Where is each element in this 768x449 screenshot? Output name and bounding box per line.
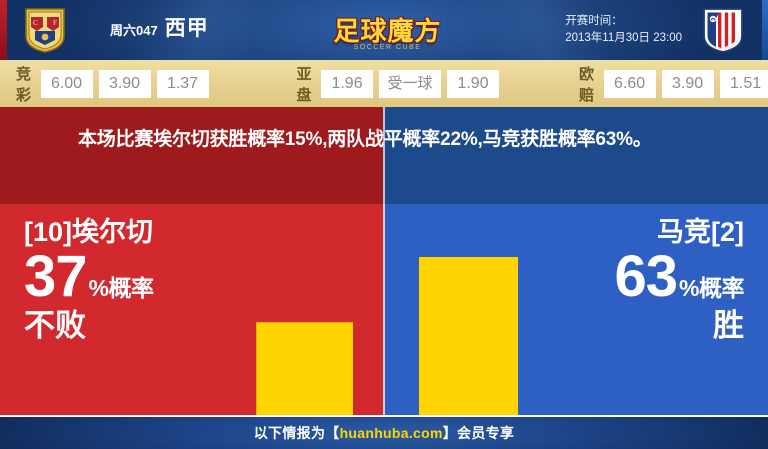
probability-chart: [10]埃尔切 37 %概率 不败 马竞[2] 63 %概率 胜 — [0, 204, 768, 415]
away-percent-unit: %概率 — [679, 269, 744, 303]
odds-group-title: 亚盘 — [297, 63, 313, 105]
site-logo[interactable]: 足球魔方 SOCCER CUBE — [325, 8, 450, 50]
footer-prefix: 以下情报为【 — [254, 425, 340, 441]
home-percent-unit: %概率 — [89, 269, 154, 303]
odds-cell-yapan-away[interactable]: 1.90 — [447, 70, 499, 98]
kickoff-value: 2013年11月30日 23:00 — [565, 30, 682, 47]
odds-group-jingcai: 竞彩 6.00 3.90 1.37 — [16, 63, 209, 105]
match-league: 西甲 — [165, 12, 209, 42]
odds-group-yapan: 亚盘 1.96 受一球 1.90 — [297, 63, 500, 105]
bar-away-probability — [418, 256, 518, 415]
odds-group-oupei: 欧赔 6.60 3.90 1.51 — [579, 63, 768, 105]
away-percent-row: 63 %概率 — [615, 248, 744, 306]
away-team-name: 马竞[2] — [615, 218, 744, 246]
bar-home-probability — [256, 322, 353, 415]
home-team-name: [10]埃尔切 — [24, 218, 153, 246]
home-percent-value: 37 — [24, 248, 87, 306]
odds-cell-jingcai-draw[interactable]: 3.90 — [99, 70, 151, 98]
match-round: 周六047 — [110, 20, 158, 39]
footer-brand-link[interactable]: huanhuba.com — [340, 425, 443, 441]
odds-group-title: 竞彩 — [16, 63, 32, 105]
footer-notice: 以下情报为【huanhuba.com】会员专享 — [254, 423, 514, 443]
home-stats: [10]埃尔切 37 %概率 不败 — [24, 218, 153, 343]
header-bar: C F 周六047 西甲 足球魔方 SOCCER CUBE — [0, 0, 768, 60]
elche-crest-icon: C F — [22, 6, 68, 54]
atletico-madrid-crest-icon — [700, 6, 746, 54]
statement-band-right-bg — [384, 107, 768, 204]
header-away-color-strip — [762, 0, 768, 60]
home-percent-row: 37 %概率 — [24, 248, 153, 306]
footer-suffix: 】会员专享 — [443, 425, 515, 441]
footer-bar: 以下情报为【huanhuba.com】会员专享 — [0, 417, 768, 449]
panel-divider — [383, 204, 385, 415]
away-outcome-label: 胜 — [615, 310, 744, 343]
odds-group-title: 欧赔 — [579, 63, 595, 105]
svg-text:F: F — [53, 19, 57, 27]
match-prediction-infographic: C F 周六047 西甲 足球魔方 SOCCER CUBE — [0, 0, 768, 449]
odds-cell-jingcai-home[interactable]: 6.00 — [41, 70, 93, 98]
site-logo-subtitle: SOCCER CUBE — [325, 44, 450, 51]
odds-cell-oupei-home[interactable]: 6.60 — [604, 70, 656, 98]
match-label: 周六047 西甲 — [110, 12, 209, 48]
odds-cell-jingcai-away[interactable]: 1.37 — [157, 70, 209, 98]
statement-band-divider — [383, 107, 385, 204]
away-percent-value: 63 — [615, 248, 678, 306]
kickoff-info: 开赛时间： 2013年11月30日 23:00 — [565, 13, 682, 46]
odds-cell-yapan-home[interactable]: 1.96 — [321, 70, 373, 98]
away-stats: 马竞[2] 63 %概率 胜 — [615, 218, 744, 343]
statement-band-left-bg — [0, 107, 384, 204]
home-outcome-label: 不败 — [24, 310, 153, 343]
header-home-color-strip — [0, 0, 7, 60]
statement-band: 本场比赛埃尔切获胜概率15%,两队战平概率22%,马竞获胜概率63%。 — [0, 107, 768, 204]
kickoff-label: 开赛时间： — [565, 13, 682, 30]
svg-text:C: C — [33, 19, 38, 27]
site-logo-text: 足球魔方 — [325, 11, 450, 48]
odds-bar: 竞彩 6.00 3.90 1.37 亚盘 1.96 受一球 1.90 欧赔 6.… — [0, 60, 768, 107]
odds-cell-oupei-draw[interactable]: 3.90 — [662, 70, 714, 98]
odds-cell-oupei-away[interactable]: 1.51 — [720, 70, 768, 98]
odds-cell-yapan-handicap[interactable]: 受一球 — [379, 70, 441, 98]
statement-text: 本场比赛埃尔切获胜概率15%,两队战平概率22%,马竞获胜概率63%。 — [78, 125, 703, 154]
